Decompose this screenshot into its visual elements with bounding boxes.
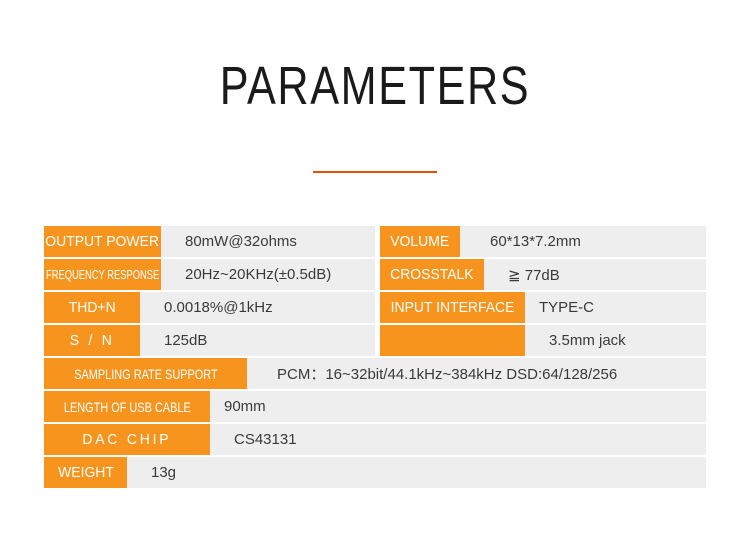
table-row: FREQUENCY RESPONSE 20Hz~20KHz(±0.5dB) CR… — [44, 259, 706, 290]
spec-label-crosstalk: CROSSTALK — [380, 259, 484, 290]
spec-label-weight: WEIGHT — [44, 457, 127, 488]
spec-label-text: OUTPUT POWER — [46, 233, 160, 250]
spec-label-text: LENGTH OF USB CABLE — [64, 399, 191, 415]
spec-cell-volume: VOLUME 60*13*7.2mm — [380, 226, 706, 257]
table-row: DAC CHIP CS43131 — [44, 424, 706, 455]
spec-label-text: SAMPLING RATE SUPPORT — [74, 366, 217, 382]
spec-value-sampling-rate-support: PCM：16~32bit/44.1kHz~384kHz DSD:64/128/2… — [247, 358, 706, 389]
spec-value-input-interface: TYPE-C — [525, 292, 706, 323]
title-divider — [313, 171, 437, 173]
spec-label-text: S / N — [70, 332, 115, 349]
spec-value-length-of-usb-cable: 90mm — [210, 391, 706, 422]
spec-cell-output-interface: 3.5mm jack — [380, 325, 706, 356]
table-row: SAMPLING RATE SUPPORT PCM：16~32bit/44.1k… — [44, 358, 706, 389]
spec-cell-crosstalk: CROSSTALK ≧ 77dB — [380, 259, 706, 290]
table-row: S / N 125dB 3.5mm jack — [44, 325, 706, 356]
spec-value-frequency-response: 20Hz~20KHz(±0.5dB) — [161, 259, 375, 290]
spec-value-volume: 60*13*7.2mm — [460, 226, 706, 257]
spec-value-thd-n: 0.0018%@1kHz — [140, 292, 375, 323]
spec-label-s-n: S / N — [44, 325, 140, 356]
table-row: OUTPUT POWER 80mW@32ohms VOLUME 60*13*7.… — [44, 226, 706, 257]
spec-label-length-of-usb-cable: LENGTH OF USB CABLE — [44, 391, 210, 422]
table-row: THD+N 0.0018%@1kHz INPUT INTERFACE TYPE-… — [44, 292, 706, 323]
spec-label-text: FREQUENCY RESPONSE — [46, 267, 159, 282]
spec-label-text: CROSSTALK — [390, 266, 473, 283]
spec-value-crosstalk: ≧ 77dB — [484, 259, 706, 290]
spec-label-dac-chip: DAC CHIP — [44, 424, 210, 455]
spec-label-thd-n: THD+N — [44, 292, 140, 323]
spec-label-text: THD+N — [69, 299, 116, 316]
table-row: LENGTH OF USB CABLE 90mm — [44, 391, 706, 422]
page-title: PARAMETERS — [75, 56, 675, 116]
spec-cell-thd-n: THD+N 0.0018%@1kHz — [44, 292, 375, 323]
spec-cell-s-n: S / N 125dB — [44, 325, 375, 356]
spec-label-text: WEIGHT — [58, 464, 114, 481]
spec-label-frequency-response: FREQUENCY RESPONSE — [44, 259, 161, 290]
spec-label-output-interface — [380, 325, 525, 356]
spec-label-text: INPUT INTERFACE — [391, 299, 515, 316]
spec-cell-output-power: OUTPUT POWER 80mW@32ohms — [44, 226, 375, 257]
spec-value-output-power: 80mW@32ohms — [161, 226, 375, 257]
table-row: WEIGHT 13g — [44, 457, 706, 488]
parameters-page: PARAMETERS OUTPUT POWER 80mW@32ohms VOLU… — [0, 0, 750, 546]
spec-label-text: DAC CHIP — [83, 431, 172, 448]
title-block: PARAMETERS — [0, 56, 750, 116]
spec-value-weight: 13g — [127, 457, 706, 488]
spec-value-dac-chip: CS43131 — [210, 424, 706, 455]
spec-cell-input-interface: INPUT INTERFACE TYPE-C — [380, 292, 706, 323]
spec-label-input-interface: INPUT INTERFACE — [380, 292, 525, 323]
spec-value-s-n: 125dB — [140, 325, 375, 356]
spec-value-output-interface: 3.5mm jack — [525, 325, 706, 356]
specifications-table: OUTPUT POWER 80mW@32ohms VOLUME 60*13*7.… — [44, 226, 706, 490]
spec-label-text: VOLUME — [391, 233, 450, 250]
spec-label-volume: VOLUME — [380, 226, 460, 257]
spec-label-sampling-rate-support: SAMPLING RATE SUPPORT — [44, 358, 247, 389]
spec-label-output-power: OUTPUT POWER — [44, 226, 161, 257]
spec-cell-frequency-response: FREQUENCY RESPONSE 20Hz~20KHz(±0.5dB) — [44, 259, 375, 290]
